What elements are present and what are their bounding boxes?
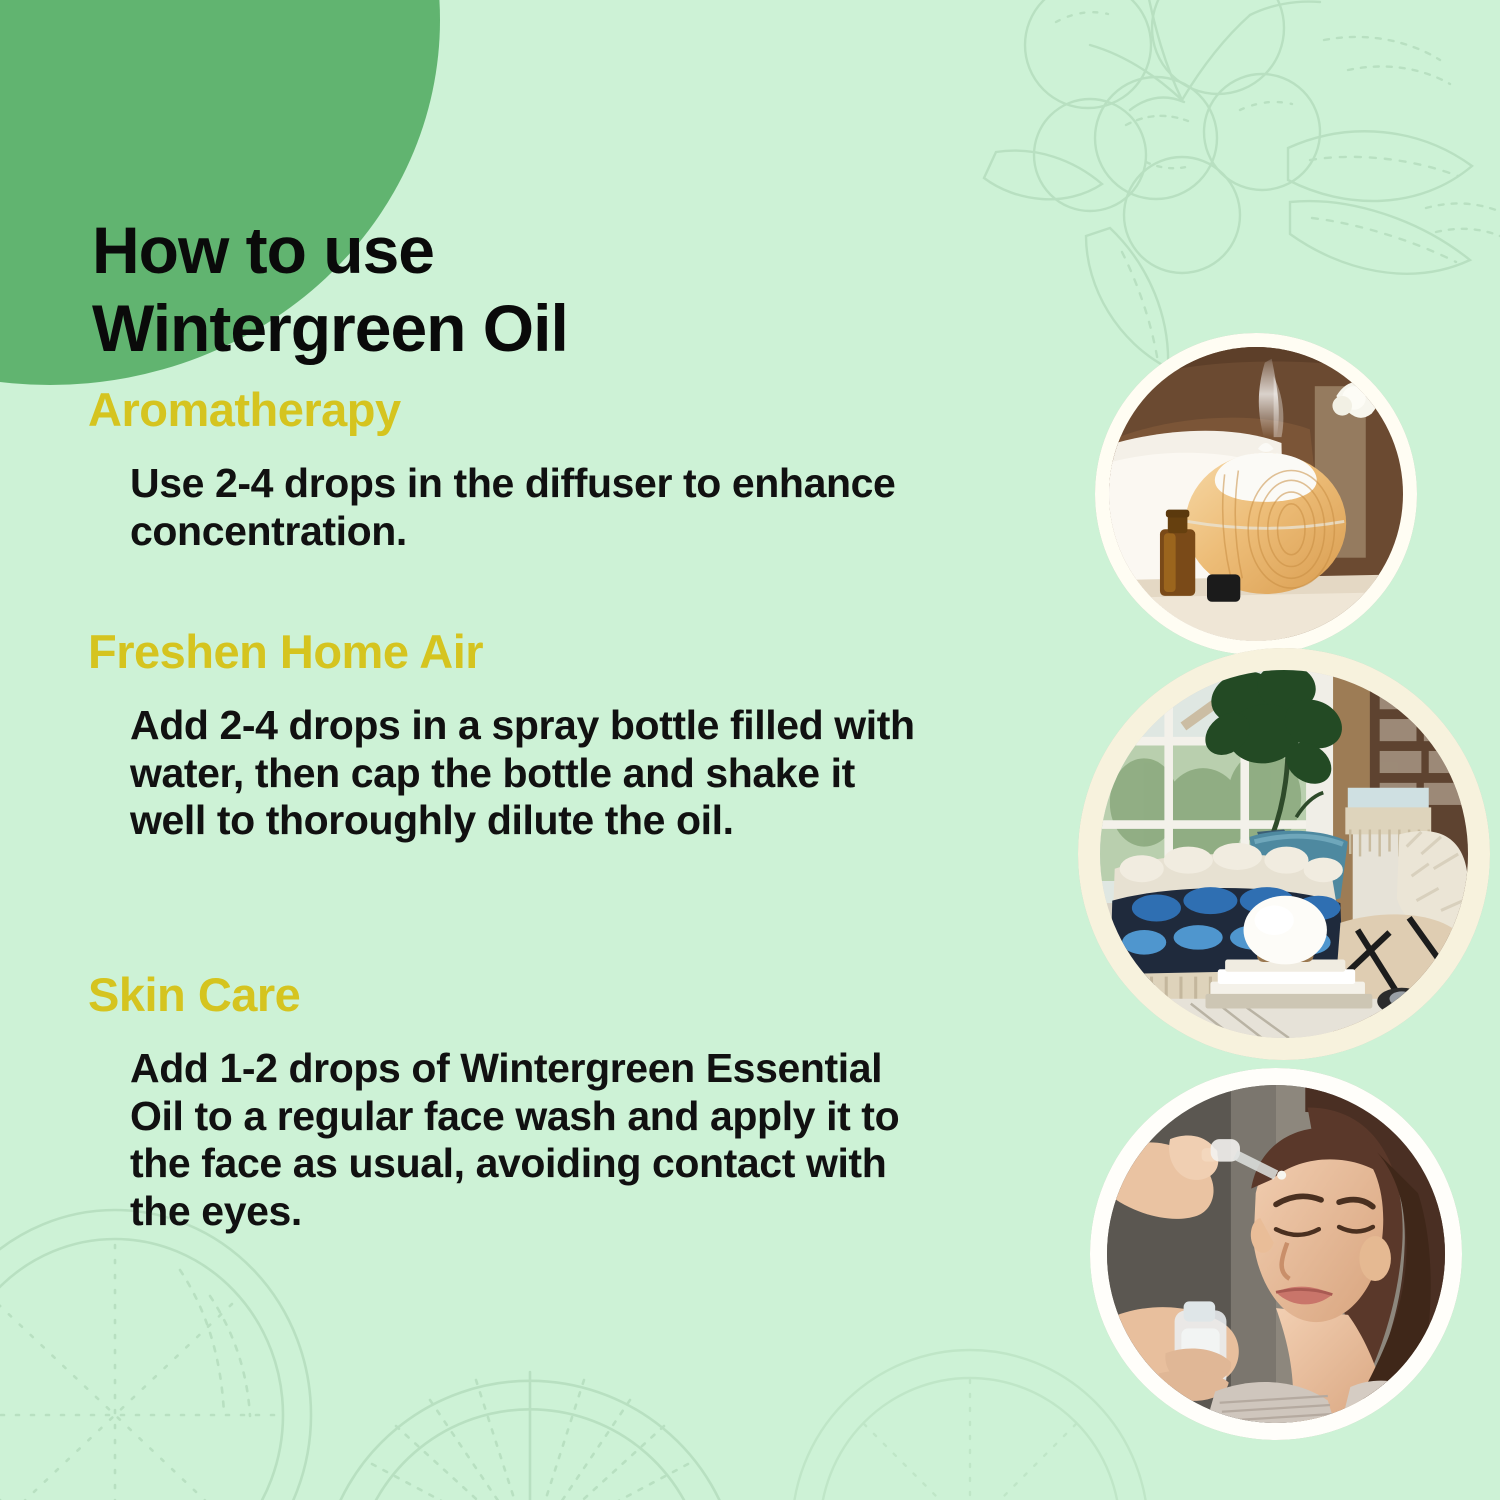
content-column: How to use Wintergreen Oil Aromatherapy … [0,0,1010,1500]
section-freshen-home-air: Freshen Home Air Add 2-4 drops in a spra… [88,627,948,845]
section-body-skin-care: Add 1-2 drops of Wintergreen Essential O… [130,1045,920,1235]
page-title: How to use Wintergreen Oil [92,212,872,368]
skincare-illustration-icon [1107,1085,1445,1423]
page-title-line-1: How to use [92,212,872,290]
section-heading-skin-care: Skin Care [88,970,948,1019]
section-body-freshen-home-air: Add 2-4 drops in a spray bottle filled w… [130,702,920,845]
section-heading-aromatherapy: Aromatherapy [88,385,948,434]
section-aromatherapy: Aromatherapy Use 2-4 drops in the diffus… [88,385,948,555]
section-skin-care: Skin Care Add 1-2 drops of Wintergreen E… [88,970,948,1236]
photo-diffuser [1095,333,1417,655]
photo-stack [1060,0,1500,1500]
page-title-line-2: Wintergreen Oil [92,290,872,368]
photo-living-room [1078,648,1490,1060]
photo-skincare-image [1107,1085,1445,1423]
living-room-illustration-icon [1100,670,1468,1038]
photo-living-room-image [1100,670,1468,1038]
diffuser-illustration-icon [1109,347,1403,641]
infographic-canvas: How to use Wintergreen Oil Aromatherapy … [0,0,1500,1500]
section-heading-freshen-home-air: Freshen Home Air [88,627,948,676]
photo-diffuser-image [1109,347,1403,641]
photo-skincare [1090,1068,1462,1440]
section-body-aromatherapy: Use 2-4 drops in the diffuser to enhance… [130,460,920,555]
